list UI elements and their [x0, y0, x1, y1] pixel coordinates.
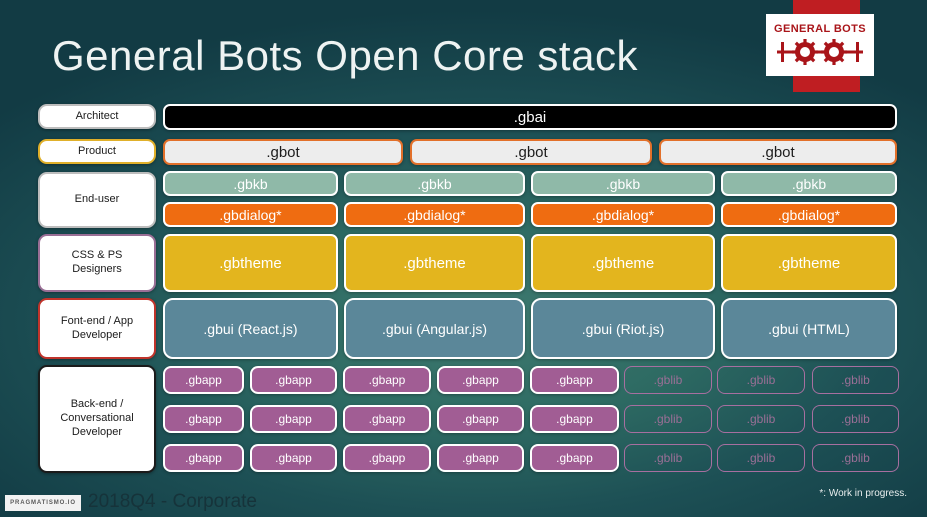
gblib-box-r3c6[interactable]: .gblib — [624, 444, 712, 472]
gbapp-box-r3c1[interactable]: .gbapp — [163, 444, 244, 472]
role-label: Product — [74, 145, 120, 159]
role-backend[interactable]: Back-end /ConversationalDeveloper — [38, 365, 156, 473]
gbkb-box-1-label: .gbkb — [233, 176, 267, 192]
gbapp-box-r1c4[interactable]: .gbapp — [437, 366, 524, 394]
gbapp-box-r3c1-label: .gbapp — [185, 451, 222, 465]
gbkb-box-2-label: .gbkb — [417, 176, 451, 192]
gblib-box-r3c7[interactable]: .gblib — [717, 444, 805, 472]
gbui-box-2[interactable]: .gbui (Angular.js) — [344, 298, 525, 359]
gbui-box-4[interactable]: .gbui (HTML) — [721, 298, 897, 359]
gbot-box-2-label: .gbot — [514, 144, 547, 161]
gbapp-box-r3c4[interactable]: .gbapp — [437, 444, 524, 472]
gblib-box-r1c6[interactable]: .gblib — [624, 366, 712, 394]
gblib-box-r2c7-label: .gblib — [747, 412, 776, 426]
gbapp-box-r1c2-label: .gbapp — [275, 373, 312, 387]
gbtheme-box-1[interactable]: .gbtheme — [163, 234, 338, 292]
gblib-box-r2c6-label: .gblib — [654, 412, 683, 426]
gbapp-box-r2c5[interactable]: .gbapp — [530, 405, 619, 433]
gbui-box-4-label: .gbui (HTML) — [768, 321, 850, 337]
pragmatismo-logo: PRAGMATISMO.IO — [5, 495, 81, 511]
gbapp-box-r1c3-label: .gbapp — [369, 373, 406, 387]
gbui-box-3[interactable]: .gbui (Riot.js) — [531, 298, 715, 359]
gbkb-box-1[interactable]: .gbkb — [163, 171, 338, 196]
gblib-box-r2c8-label: .gblib — [841, 412, 870, 426]
gbai-box[interactable]: .gbai — [163, 104, 897, 130]
gbkb-box-3[interactable]: .gbkb — [531, 171, 715, 196]
gblib-box-r1c7-label: .gblib — [747, 373, 776, 387]
gblib-box-r2c8[interactable]: .gblib — [812, 405, 899, 433]
role-designers[interactable]: CSS & PSDesigners — [38, 234, 156, 292]
gbapp-box-r2c2-label: .gbapp — [275, 412, 312, 426]
gbtheme-box-2-label: .gbtheme — [403, 255, 466, 272]
gbapp-box-r2c3-label: .gbapp — [369, 412, 406, 426]
gbapp-box-r2c5-label: .gbapp — [556, 412, 593, 426]
role-label: Architect — [72, 110, 123, 124]
gbot-box-1[interactable]: .gbot — [163, 139, 403, 165]
gbdialog-box-3-label: .gbdialog* — [592, 207, 654, 223]
gbapp-box-r3c5-label: .gbapp — [556, 451, 593, 465]
gbapp-box-r3c4-label: .gbapp — [462, 451, 499, 465]
gbapp-box-r1c3[interactable]: .gbapp — [343, 366, 431, 394]
gbui-box-1-label: .gbui (React.js) — [203, 321, 297, 337]
gbapp-box-r2c1[interactable]: .gbapp — [163, 405, 244, 433]
gbapp-box-r1c1[interactable]: .gbapp — [163, 366, 244, 394]
gbtheme-box-1-label: .gbtheme — [219, 255, 282, 272]
role-label: End-user — [71, 193, 124, 207]
gbkb-box-4-label: .gbkb — [792, 176, 826, 192]
gbkb-box-3-label: .gbkb — [606, 176, 640, 192]
gblib-box-r1c7[interactable]: .gblib — [717, 366, 805, 394]
gblib-box-r1c6-label: .gblib — [654, 373, 683, 387]
gblib-box-r2c7[interactable]: .gblib — [717, 405, 805, 433]
gbapp-box-r1c1-label: .gbapp — [185, 373, 222, 387]
gblib-box-r1c8-label: .gblib — [841, 373, 870, 387]
two-gears-icon — [777, 38, 863, 66]
work-in-progress-note: *: Work in progress. — [819, 488, 907, 499]
slide-canvas: General Bots Open Core stack GENERAL BOT… — [0, 0, 927, 517]
gbkb-box-4[interactable]: .gbkb — [721, 171, 897, 196]
gbapp-box-r2c1-label: .gbapp — [185, 412, 222, 426]
gbdialog-box-4-label: .gbdialog* — [778, 207, 840, 223]
gbapp-box-r2c4[interactable]: .gbapp — [437, 405, 524, 433]
gblib-box-r1c8[interactable]: .gblib — [812, 366, 899, 394]
gbdialog-box-1-label: .gbdialog* — [219, 207, 281, 223]
role-label: Back-end /ConversationalDeveloper — [56, 398, 137, 439]
gbapp-box-r2c3[interactable]: .gbapp — [343, 405, 431, 433]
role-architect[interactable]: Architect — [38, 104, 156, 129]
gbapp-box-r3c3[interactable]: .gbapp — [343, 444, 431, 472]
gblib-box-r3c8[interactable]: .gblib — [812, 444, 899, 472]
gbui-box-1[interactable]: .gbui (React.js) — [163, 298, 338, 359]
role-product[interactable]: Product — [38, 139, 156, 164]
gbot-box-3-label: .gbot — [761, 144, 794, 161]
gbdialog-box-3[interactable]: .gbdialog* — [531, 202, 715, 227]
gbapp-box-r3c2[interactable]: .gbapp — [250, 444, 337, 472]
gbapp-box-r3c3-label: .gbapp — [369, 451, 406, 465]
gbtheme-box-4-label: .gbtheme — [778, 255, 841, 272]
logo-wordmark: GENERAL BOTS — [774, 24, 866, 35]
role-label: CSS & PSDesigners — [68, 249, 127, 277]
gbai-box-label: .gbai — [514, 109, 547, 126]
gblib-box-r3c6-label: .gblib — [654, 451, 683, 465]
gbdialog-box-2[interactable]: .gbdialog* — [344, 202, 525, 227]
gbui-box-3-label: .gbui (Riot.js) — [582, 321, 664, 337]
gbot-box-1-label: .gbot — [266, 144, 299, 161]
footer-caption: 2018Q4 - Corporate — [88, 491, 257, 513]
gbapp-box-r3c5[interactable]: .gbapp — [530, 444, 619, 472]
gbdialog-box-1[interactable]: .gbdialog* — [163, 202, 338, 227]
general-bots-logo: GENERAL BOTS — [766, 14, 874, 76]
gbtheme-box-3-label: .gbtheme — [592, 255, 655, 272]
gblib-box-r3c8-label: .gblib — [841, 451, 870, 465]
gbapp-box-r1c4-label: .gbapp — [462, 373, 499, 387]
page-title: General Bots Open Core stack — [52, 32, 638, 80]
gblib-box-r3c7-label: .gblib — [747, 451, 776, 465]
gbkb-box-2[interactable]: .gbkb — [344, 171, 525, 196]
gbapp-box-r2c4-label: .gbapp — [462, 412, 499, 426]
gbtheme-box-3[interactable]: .gbtheme — [531, 234, 715, 292]
gbapp-box-r1c5-label: .gbapp — [556, 373, 593, 387]
gbapp-box-r2c2[interactable]: .gbapp — [250, 405, 337, 433]
gbtheme-box-2[interactable]: .gbtheme — [344, 234, 525, 292]
gblib-box-r2c6[interactable]: .gblib — [624, 405, 712, 433]
role-frontend[interactable]: Font-end / AppDeveloper — [38, 298, 156, 359]
gbtheme-box-4[interactable]: .gbtheme — [721, 234, 897, 292]
gbapp-box-r1c2[interactable]: .gbapp — [250, 366, 337, 394]
gbot-box-3[interactable]: .gbot — [659, 139, 897, 165]
role-end-user[interactable]: End-user — [38, 172, 156, 228]
gbui-box-2-label: .gbui (Angular.js) — [382, 321, 487, 337]
gbapp-box-r3c2-label: .gbapp — [275, 451, 312, 465]
gbot-box-2[interactable]: .gbot — [410, 139, 652, 165]
gbdialog-box-2-label: .gbdialog* — [403, 207, 465, 223]
gbapp-box-r1c5[interactable]: .gbapp — [530, 366, 619, 394]
gbdialog-box-4[interactable]: .gbdialog* — [721, 202, 897, 227]
role-label: Font-end / AppDeveloper — [57, 315, 137, 343]
pragmatismo-wordmark: PRAGMATISMO.IO — [10, 500, 76, 506]
